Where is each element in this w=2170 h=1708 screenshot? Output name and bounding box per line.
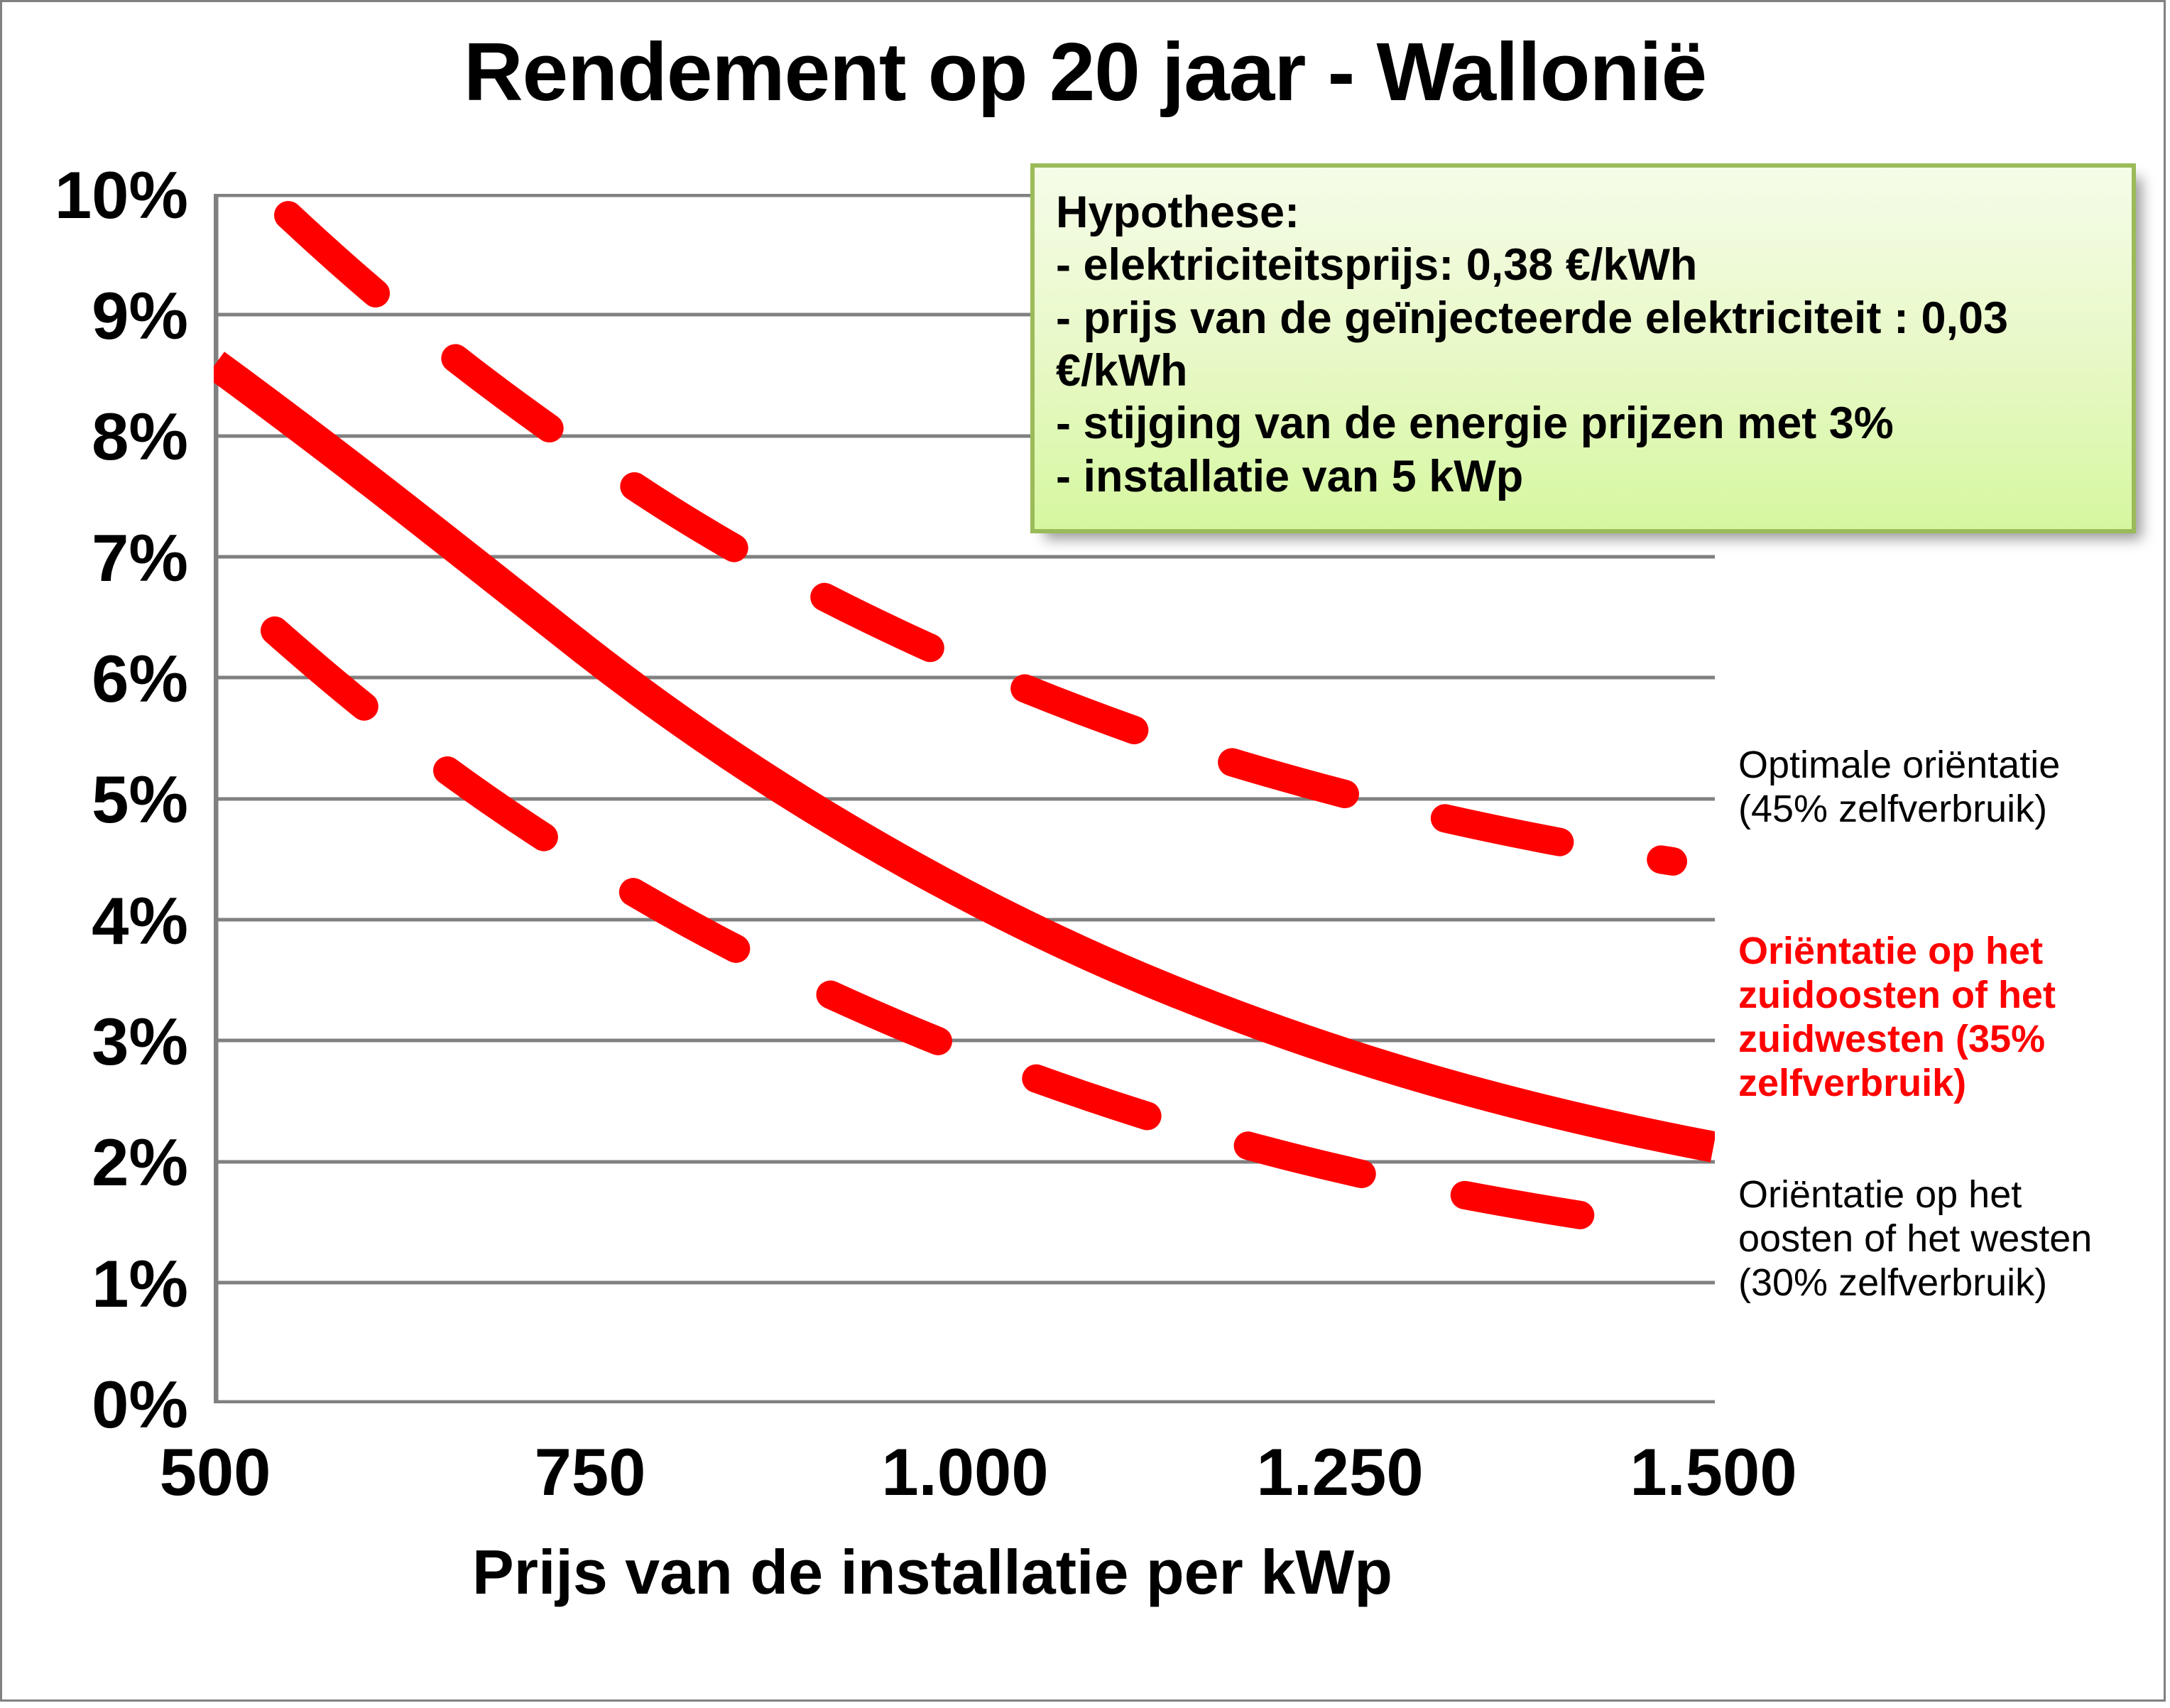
series-label-zuid-line2: zuidoosten of het xyxy=(1738,973,2170,1017)
hypothesis-line-1: - elektriciteitsprijs: 0,38 €/kWh xyxy=(1056,239,2112,291)
hypothesis-box: Hypothese: - elektriciteitsprijs: 0,38 €… xyxy=(1030,163,2136,533)
series-label-zuid-line1: Oriëntatie op het xyxy=(1738,929,2170,973)
y-tick-1: 1% xyxy=(18,1251,188,1317)
series-label-optimale-line2: (45% zelfverbruik) xyxy=(1738,787,2170,831)
series-label-oost-west: Oriëntatie op het oosten of het westen (… xyxy=(1738,1173,2170,1305)
y-tick-8: 8% xyxy=(18,403,188,470)
y-tick-3: 3% xyxy=(18,1008,188,1075)
chart-frame: Rendement op 20 jaar - Wallonië 10% 9% 8… xyxy=(0,0,2166,1702)
y-tick-9: 9% xyxy=(18,283,188,349)
hypothesis-heading: Hypothese: xyxy=(1056,186,2112,239)
hypothesis-line-4: - installatie van 5 kWp xyxy=(1056,450,2112,503)
x-tick-750: 750 xyxy=(484,1437,697,1508)
series-label-optimale-line1: Optimale oriëntatie xyxy=(1738,743,2170,787)
series-label-zuid-line4: zelfverbruik) xyxy=(1738,1061,2170,1105)
y-tick-0: 0% xyxy=(18,1371,188,1438)
hypothesis-line-2: - prijs van de geïnjecteerde elektricite… xyxy=(1056,292,2112,398)
series-label-zuid-line3: zuidwesten (35% xyxy=(1738,1017,2170,1061)
series-oost-west-line xyxy=(275,631,1676,1229)
hypothesis-text-block: Hypothese: - elektriciteitsprijs: 0,38 €… xyxy=(1056,186,2112,503)
y-tick-10: 10% xyxy=(18,162,188,229)
series-label-oost-line1: Oriëntatie op het xyxy=(1738,1173,2170,1217)
y-tick-2: 2% xyxy=(18,1129,188,1196)
hypothesis-line-3: - stijging van de energie prijzen met 3% xyxy=(1056,397,2112,450)
x-tick-1500: 1.500 xyxy=(1607,1437,1820,1508)
y-tick-7: 7% xyxy=(18,525,188,592)
series-label-oost-line2: oosten of het westen xyxy=(1738,1217,2170,1261)
x-axis-tick-labels: 500 750 1.000 1.250 1.500 xyxy=(2,1437,2168,1522)
y-tick-4: 4% xyxy=(18,888,188,954)
x-tick-1250: 1.250 xyxy=(1233,1437,1446,1508)
series-label-optimale-orientatie: Optimale oriëntatie (45% zelfverbruik) xyxy=(1738,743,2170,831)
chart-title: Rendement op 20 jaar - Wallonië xyxy=(2,29,2168,116)
series-label-zuidoost-zuidwest: Oriëntatie op het zuidoosten of het zuid… xyxy=(1738,929,2170,1105)
x-axis-title: Prijs van de installatie per kWp xyxy=(2,1540,1863,1605)
x-tick-500: 500 xyxy=(109,1437,322,1508)
series-label-oost-line3: (30% zelfverbruik) xyxy=(1738,1261,2170,1305)
y-tick-6: 6% xyxy=(18,646,188,712)
x-tick-1000: 1.000 xyxy=(858,1437,1072,1508)
y-tick-5: 5% xyxy=(18,766,188,833)
